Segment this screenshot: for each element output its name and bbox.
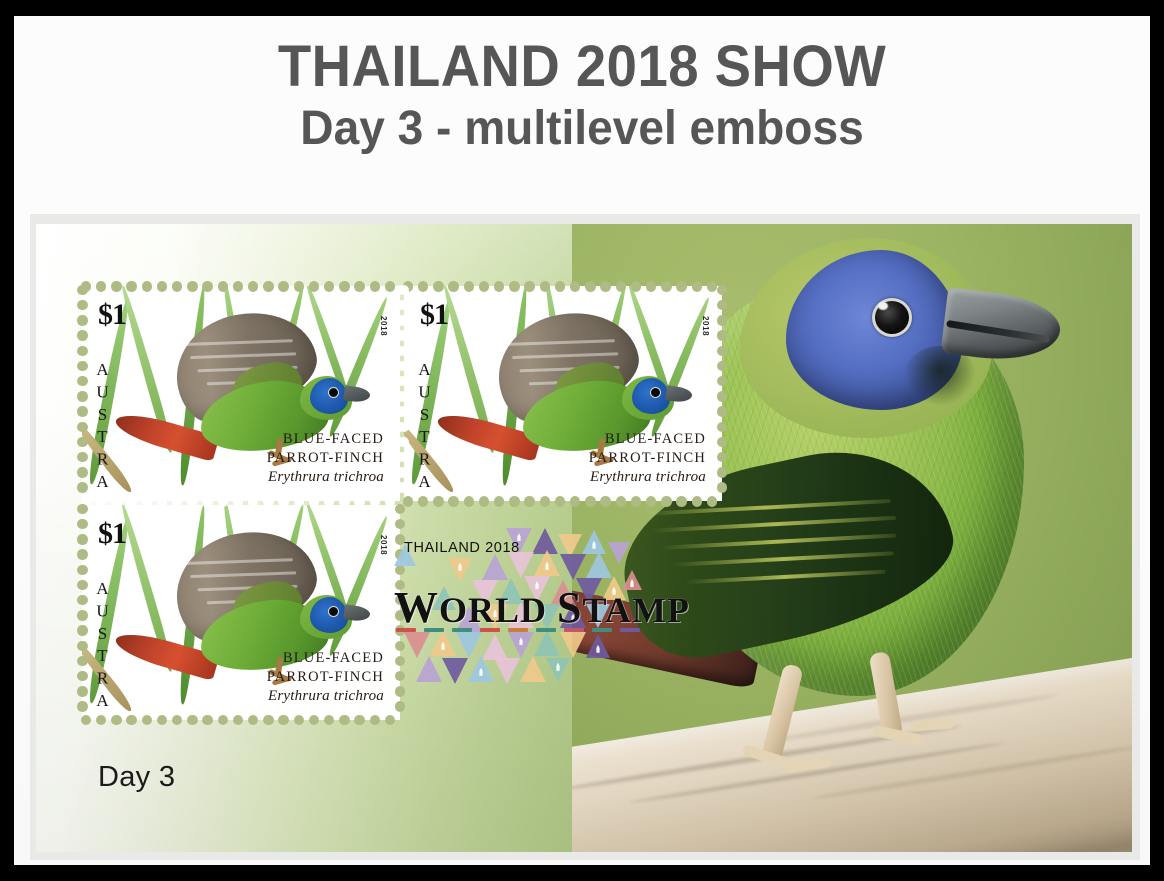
perforation-hole [464, 496, 474, 506]
stamp-bird-eye [650, 387, 661, 398]
perforation-hole [77, 452, 87, 462]
perforation-hole [187, 281, 197, 291]
perforation-hole [717, 300, 727, 310]
perforation-hole [479, 496, 489, 506]
perforation-hole [248, 496, 258, 506]
perforation-hole [77, 671, 87, 681]
perforation-hole [126, 281, 136, 291]
logo-triangle [416, 656, 442, 682]
perforation-hole [370, 496, 380, 506]
perforation-hole [126, 496, 136, 506]
perforation-hole [309, 715, 319, 725]
perforation-hole [509, 281, 519, 291]
perforation-hole [324, 715, 334, 725]
perforation-hole [157, 496, 167, 506]
perforation-hole [717, 346, 727, 356]
stamp-year-label: 2018 [379, 316, 388, 336]
bird-eye-glint [878, 302, 888, 310]
perforation-hole [77, 595, 87, 605]
stamp-bottom-left[interactable]: $1 AUSTRALIA 2018 BLUE-FACED PARROT-FINC… [82, 505, 400, 720]
logo-triangle [482, 554, 508, 580]
perforation-hole [676, 496, 686, 506]
logo-triangle [456, 632, 482, 658]
stamp-denomination: $1 [420, 298, 448, 332]
perforation-hole [126, 715, 136, 725]
perforation-hole [631, 281, 641, 291]
perforation-hole [717, 376, 727, 386]
logo-triangle [494, 658, 520, 684]
perforation-hole [370, 715, 380, 725]
perforation-hole [172, 496, 182, 506]
stamp-common-name-line1: BLUE-FACED [267, 649, 384, 668]
perforation-hole [77, 625, 87, 635]
perforation-hole [399, 482, 409, 492]
logo-triangle [560, 632, 586, 658]
perforation-hole [707, 281, 717, 291]
stamp-top-left[interactable]: $1 AUSTRALIA 2018 BLUE-FACED PARROT-FINC… [82, 286, 400, 501]
perforation-hole [385, 281, 395, 291]
stamp-common-name-line2: PARROT-FINCH [589, 449, 706, 468]
perforation-hole [278, 496, 288, 506]
perforation-hole [661, 496, 671, 506]
perforation-hole [717, 406, 727, 416]
perforation-hole [339, 496, 349, 506]
perforation-hole [77, 519, 87, 529]
souvenir-sheet: $1 AUSTRALIA 2018 BLUE-FACED PARROT-FINC… [36, 224, 1132, 852]
perforation-hole [570, 281, 580, 291]
perforation-hole [370, 281, 380, 291]
header-title-line1: THAILAND 2018 SHOW [48, 16, 1116, 96]
logo-triangle [608, 542, 630, 564]
stamp-bird-eye [328, 606, 339, 617]
perforation-hole [77, 580, 87, 590]
perforation-hole [646, 496, 656, 506]
stamp-scientific-name: Erythrura trichroa [267, 468, 384, 488]
perforation-hole [524, 281, 534, 291]
perforation-hole [77, 565, 87, 575]
stamp-caption: BLUE-FACED PARROT-FINCH Erythrura trichr… [267, 430, 384, 487]
perforation-hole [692, 496, 702, 506]
perforation-hole [263, 715, 273, 725]
stamp-caption: BLUE-FACED PARROT-FINCH Erythrura trichr… [589, 430, 706, 487]
stamp-common-name-line1: BLUE-FACED [589, 430, 706, 449]
logo-world-rest: ORLD [439, 590, 547, 630]
stamp-scientific-name: Erythrura trichroa [267, 687, 384, 707]
perforation-hole [399, 467, 409, 477]
perforation-hole [399, 422, 409, 432]
perforation-hole [96, 496, 106, 506]
perforation-hole [555, 496, 565, 506]
perforation-hole [77, 406, 87, 416]
perforation-hole [77, 534, 87, 544]
perforation-hole [111, 281, 121, 291]
perforation-hole [77, 701, 87, 711]
stamp-country-label: AUSTRALIA [92, 360, 112, 501]
perforation-hole [717, 285, 727, 295]
perforation-hole [187, 496, 197, 506]
perforation-hole [509, 496, 519, 506]
perforation-hole [399, 406, 409, 416]
perforation-hole [202, 496, 212, 506]
perforation-hole [540, 496, 550, 506]
perforation-hole [202, 715, 212, 725]
perforation-hole [354, 281, 364, 291]
scan-card: THAILAND 2018 SHOW Day 3 - multilevel em… [14, 16, 1150, 865]
perforation-hole [81, 715, 91, 725]
stamp-denomination: $1 [98, 298, 126, 332]
stamp-year-label: 2018 [701, 316, 710, 336]
perforation-hole [399, 330, 409, 340]
perforation-hole [172, 281, 182, 291]
perforation-hole [433, 496, 443, 506]
perforation-hole [248, 715, 258, 725]
perforation-hole [540, 281, 550, 291]
stamp-denomination: $1 [98, 517, 126, 551]
perforation-hole [77, 300, 87, 310]
perforation-hole [77, 437, 87, 447]
perforation-hole [77, 504, 87, 514]
logo-title: THAILAND 2018 [404, 540, 520, 556]
perforation-hole [494, 281, 504, 291]
perforation-hole [339, 281, 349, 291]
perforation-hole [600, 496, 610, 506]
perforation-hole [77, 686, 87, 696]
perforation-hole [616, 281, 626, 291]
perforation-hole [646, 281, 656, 291]
perforation-hole [278, 715, 288, 725]
perforation-hole [309, 281, 319, 291]
perforation-hole [395, 686, 405, 696]
stamp-common-name-line2: PARROT-FINCH [267, 449, 384, 468]
perforation-hole [570, 496, 580, 506]
perforation-hole [395, 504, 405, 514]
perforation-hole [77, 641, 87, 651]
perforation-hole [717, 422, 727, 432]
perforation-hole [218, 496, 228, 506]
image-frame: THAILAND 2018 SHOW Day 3 - multilevel em… [0, 0, 1164, 881]
perforation-hole [77, 391, 87, 401]
perforation-hole [676, 281, 686, 291]
perforation-hole [399, 315, 409, 325]
perforation-hole [142, 281, 152, 291]
perforation-hole [403, 496, 413, 506]
logo-triangle [520, 656, 546, 682]
stamp-country-label: AUSTRALIA [92, 579, 112, 720]
perforation-hole [399, 346, 409, 356]
perforation-hole [96, 715, 106, 725]
perforation-hole [309, 496, 319, 506]
stamp-top-right[interactable]: $1 AUSTRALIA 2018 BLUE-FACED PARROT-FINC… [404, 286, 722, 501]
day-label: Day 3 [98, 761, 175, 794]
perforation-hole [448, 281, 458, 291]
perforation-hole [294, 496, 304, 506]
stamp-common-name-line1: BLUE-FACED [267, 430, 384, 449]
perforation-hole [385, 715, 395, 725]
stamp-scientific-name: Erythrura trichroa [589, 468, 706, 488]
perforation-hole [111, 496, 121, 506]
perforation-hole [385, 496, 395, 506]
perforation-hole [717, 391, 727, 401]
perforation-hole [233, 715, 243, 725]
perforation-hole [717, 315, 727, 325]
perforation-hole [524, 496, 534, 506]
perforation-hole [354, 715, 364, 725]
perforation-hole [77, 610, 87, 620]
perforation-hole [464, 281, 474, 291]
perforation-hole [585, 281, 595, 291]
stamp-bird-eye [328, 387, 339, 398]
perforation-hole [324, 281, 334, 291]
perforation-hole [77, 315, 87, 325]
perforation-hole [77, 656, 87, 666]
perforation-hole [172, 715, 182, 725]
perforation-hole [631, 496, 641, 506]
stamp-common-name-line2: PARROT-FINCH [267, 668, 384, 687]
perforation-hole [233, 496, 243, 506]
header: THAILAND 2018 SHOW Day 3 - multilevel em… [14, 16, 1150, 206]
perforation-hole [218, 281, 228, 291]
stamp-country-label: AUSTRALIA [414, 360, 434, 501]
perforation-hole [263, 281, 273, 291]
perforation-hole [294, 715, 304, 725]
perforation-hole [278, 281, 288, 291]
perforation-hole [263, 496, 273, 506]
header-title-line2: Day 3 - multilevel emboss [37, 96, 1128, 154]
perforation-hole [661, 281, 671, 291]
perforation-hole [324, 496, 334, 506]
perforation-hole [77, 482, 87, 492]
logo-s-letter: S [557, 583, 582, 632]
perforation-hole [717, 437, 727, 447]
logo-triangle [560, 554, 586, 580]
perforation-hole [418, 281, 428, 291]
perforation-hole [77, 422, 87, 432]
perforation-hole [585, 496, 595, 506]
perforation-hole [248, 281, 258, 291]
perforation-hole [339, 715, 349, 725]
perforation-hole [555, 281, 565, 291]
logo-triangle [534, 630, 560, 656]
perforation-hole [717, 330, 727, 340]
perforation-hole [294, 281, 304, 291]
logo-stamp-rest: TAMP [583, 590, 690, 630]
logo-wordmark: WORLD STAMP [394, 582, 664, 633]
perforation-hole [399, 391, 409, 401]
perforation-hole [479, 281, 489, 291]
logo-w-letter: W [394, 583, 439, 632]
logo-triangle [404, 632, 430, 658]
perforation-hole [717, 452, 727, 462]
perforation-hole [448, 496, 458, 506]
perforation-hole [692, 281, 702, 291]
perforation-hole [233, 281, 243, 291]
perforation-hole [218, 715, 228, 725]
perforation-hole [157, 715, 167, 725]
perforation-hole [494, 496, 504, 506]
perforation-hole [77, 467, 87, 477]
perforation-hole [77, 376, 87, 386]
perforation-hole [600, 281, 610, 291]
perforation-hole [77, 346, 87, 356]
perforation-hole [77, 361, 87, 371]
perforation-hole [111, 715, 121, 725]
perforation-hole [717, 482, 727, 492]
perforation-hole [77, 330, 87, 340]
perforation-hole [717, 361, 727, 371]
logo-triangle [442, 658, 468, 684]
perforation-hole [187, 715, 197, 725]
exhibition-logo-area: THAILAND 2018 WORLD STAMP [386, 524, 656, 684]
souvenir-sheet-wrapper: $1 AUSTRALIA 2018 BLUE-FACED PARROT-FINC… [30, 214, 1140, 860]
perforation-hole [202, 281, 212, 291]
world-stamp-logo: THAILAND 2018 WORLD STAMP [386, 524, 656, 684]
perforation-hole [395, 701, 405, 711]
perforation-hole [96, 281, 106, 291]
perforation-hole [717, 467, 727, 477]
perforation-hole [616, 496, 626, 506]
perforation-hole [77, 549, 87, 559]
perforation-hole [354, 496, 364, 506]
perforation-hole [157, 281, 167, 291]
perforation-hole [707, 496, 717, 506]
perforation-hole [77, 285, 87, 295]
perforation-hole [418, 496, 428, 506]
perforation-hole [142, 715, 152, 725]
stamp-caption: BLUE-FACED PARROT-FINCH Erythrura trichr… [267, 649, 384, 706]
perforation-hole [433, 281, 443, 291]
perforation-hole [142, 496, 152, 506]
